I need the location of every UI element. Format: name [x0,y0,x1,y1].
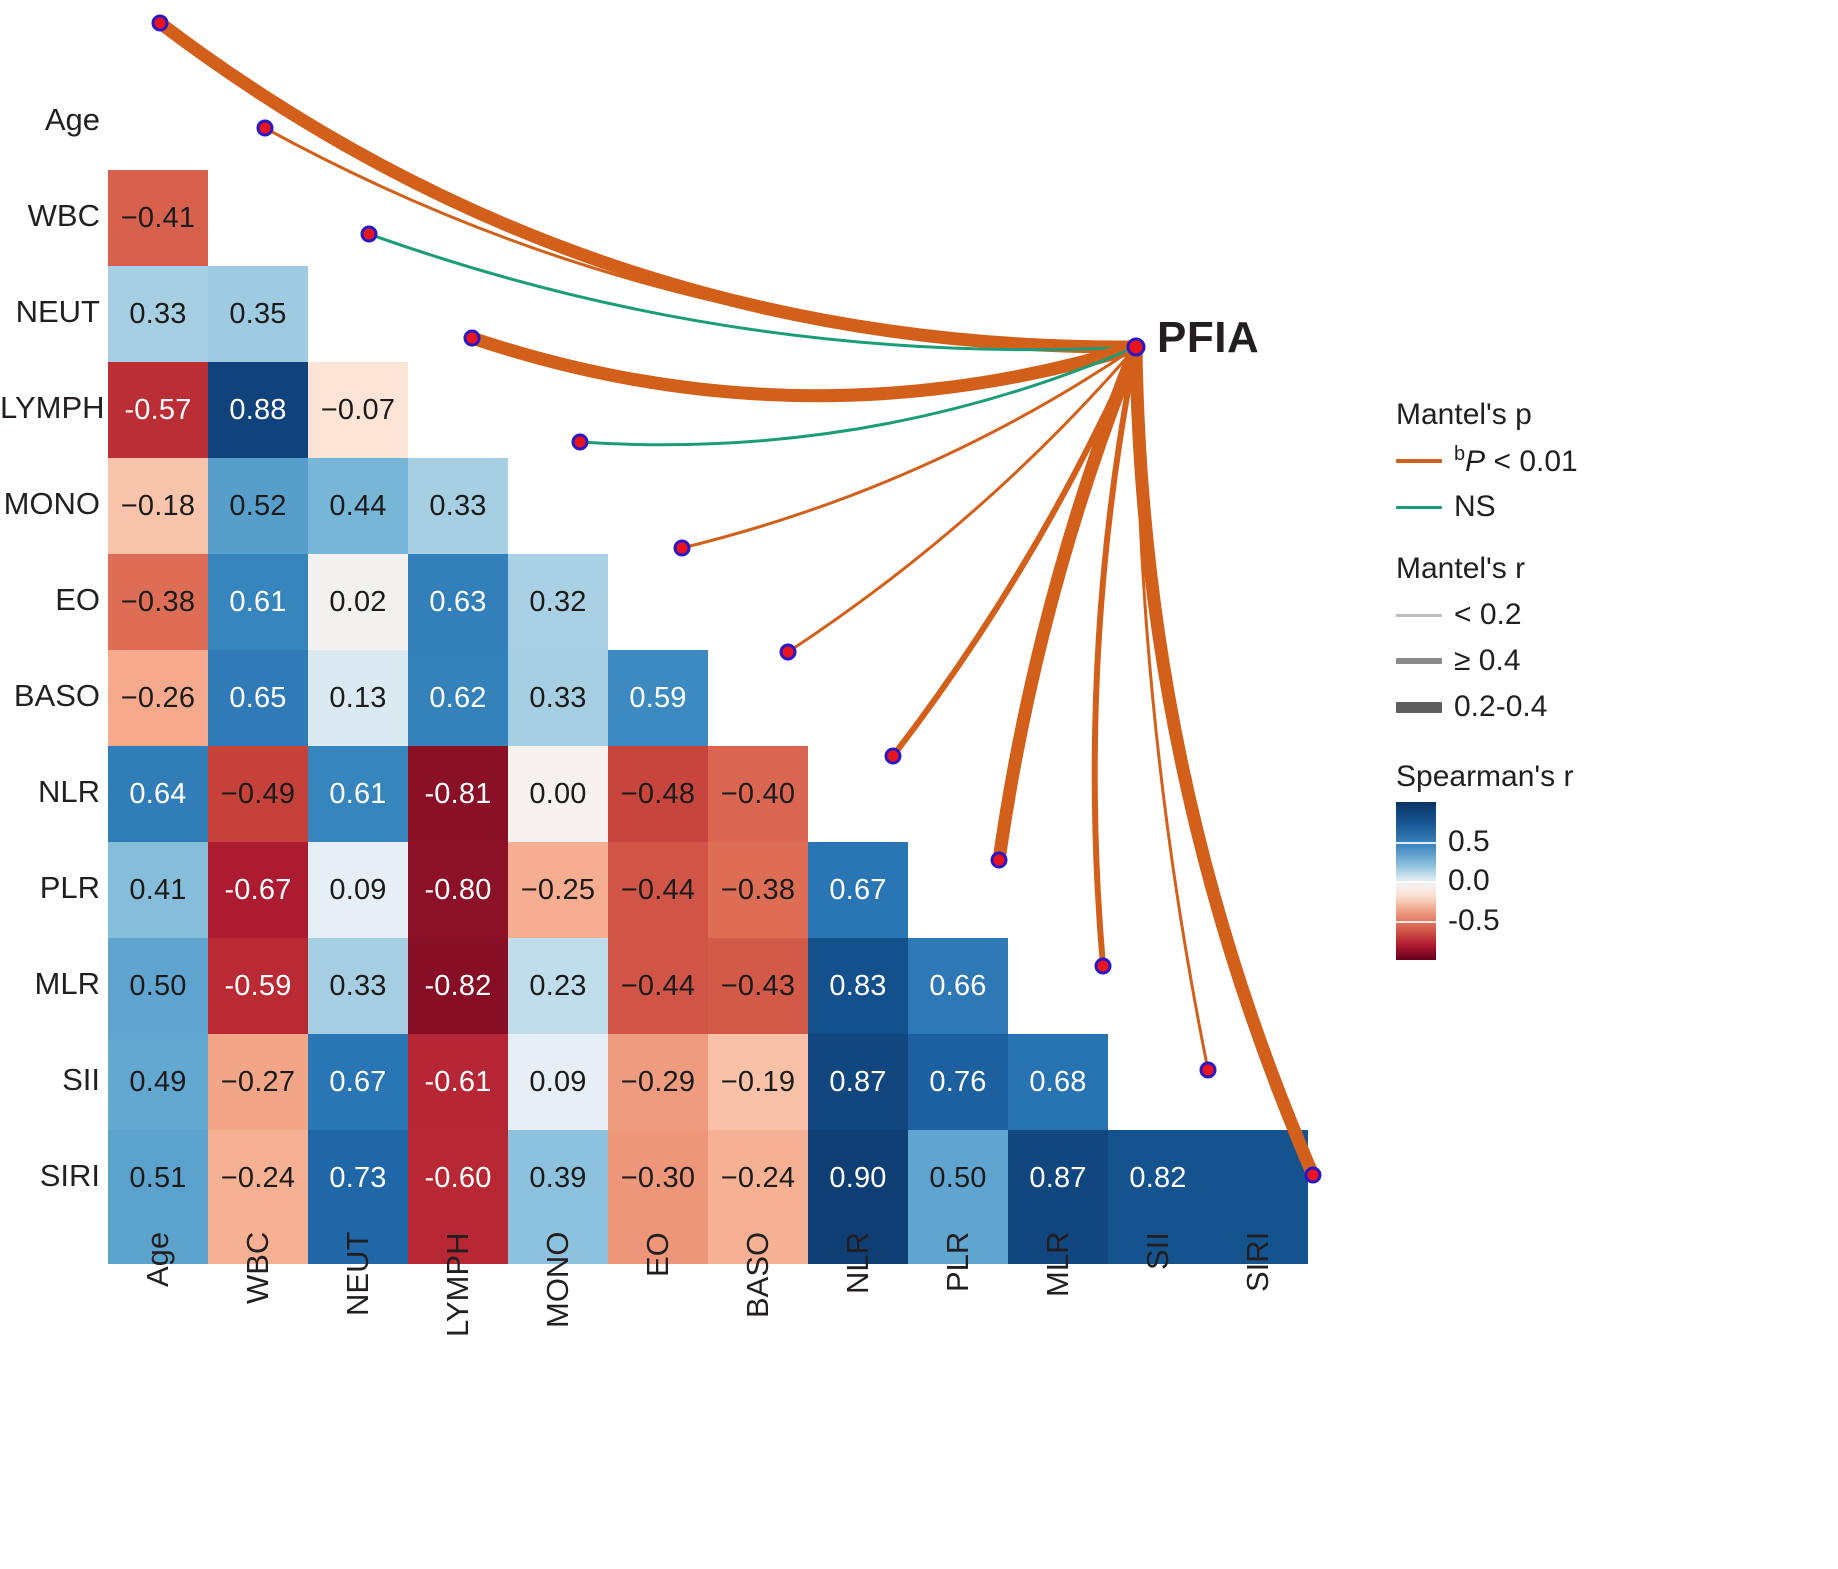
heatmap-cell: 0.50 [108,938,208,1034]
y-axis-label-mlr: MLR [0,966,100,1002]
heatmap-cell: -0.61 [408,1034,508,1130]
heatmap-cell: −0.38 [108,554,208,650]
colorbar-tick-label: -0.5 [1448,904,1500,938]
heatmap-cell: -0.80 [408,842,508,938]
x-axis-label-plr: PLR [908,1232,1008,1364]
heatmap-cell: 0.33 [308,938,408,1034]
y-axis-label-lymph: LYMPH [0,390,100,426]
heatmap-cell: −0.38 [708,842,808,938]
heatmap-cell: 0.64 [108,746,208,842]
y-axis-label-plr: PLR [0,870,100,906]
heatmap-cell: 0.33 [108,266,208,362]
y-axis-label-baso: BASO [0,678,100,714]
heatmap-cell: 0.66 [908,938,1008,1034]
heatmap-cell: 0.83 [808,938,908,1034]
heatmap-cell: 0.87 [808,1034,908,1130]
colorbar-body: 0.50.0-0.5 [1396,802,1826,960]
y-axis-label-eo: EO [0,582,100,618]
heatmap-cell: 0.61 [208,554,308,650]
heatmap-cell: 0.52 [208,458,308,554]
legend-item-r-ge-04: ≥ 0.4 [1396,638,1826,684]
legend-mantel-r: Mantel's r < 0.2 ≥ 0.4 0.2-0.4 [1396,552,1826,730]
heatmap-cell: −0.30 [608,1130,708,1226]
colorbar-title: Spearman's r [1396,760,1826,794]
x-axis-label-siri: SIRI [1208,1232,1308,1364]
y-axis-label-age: Age [0,102,100,138]
heatmap-cell: 0.90 [808,1130,908,1226]
legend-item-p-lt-001: bP < 0.01 [1396,438,1826,484]
heatmap-cell: 0.33 [408,458,508,554]
x-axis-label-baso: BASO [708,1232,808,1364]
heatmap-cell: −0.19 [708,1034,808,1130]
heatmap-cell: −0.43 [708,938,808,1034]
x-axis-label-mlr: MLR [1008,1232,1108,1364]
heatmap-cell: 0.13 [308,650,408,746]
colorbar-tick-labels: 0.50.0-0.5 [1448,802,1598,960]
heatmap-cell: -0.81 [408,746,508,842]
mantel-node-age [153,16,167,30]
hub-label-pfia: PFIA [1157,313,1259,363]
legend-line-swatch-orange [1396,459,1454,463]
heatmap-cell: 0.67 [808,842,908,938]
heatmap-cell: −0.18 [108,458,208,554]
correlation-heatmap-figure: −0.410.330.35-0.570.88−0.07−0.180.520.44… [0,0,1838,1569]
x-axis-label-age: Age [108,1232,208,1364]
heatmap-cell: −0.26 [108,650,208,746]
y-axis-labels: AgeWBCNEUTLYMPHMONOEOBASONLRPLRMLRSIISIR… [0,74,100,1226]
colorbar-tickmark [1396,881,1436,883]
x-axis-label-sii: SII [1108,1232,1208,1364]
heatmap-cell: 0.39 [508,1130,608,1226]
colorbar-panel: Spearman's r 0.50.0-0.5 [1396,760,1826,960]
heatmap-cell: −0.29 [608,1034,708,1130]
legend-line-swatch-thick [1396,702,1454,713]
heatmap-cell: 0.49 [108,1034,208,1130]
heatmap-cell: −0.48 [608,746,708,842]
heatmap-cell: 0.23 [508,938,608,1034]
legend-item-r-lt-02-label: < 0.2 [1454,598,1522,632]
heatmap-cell: 0.32 [508,554,608,650]
heatmap-cell: 0.65 [208,650,308,746]
heatmap-cell: 0.09 [508,1034,608,1130]
x-axis-label-neut: NEUT [308,1232,408,1364]
x-axis-label-mono: MONO [508,1232,608,1364]
heatmap-cell: 0.62 [408,650,508,746]
heatmap-cell: 0.61 [308,746,408,842]
legend-item-ns: NS [1396,484,1826,530]
colorbar-gradient [1396,802,1436,960]
legend-mantel-p-title: Mantel's p [1396,398,1826,432]
heatmap-cell: −0.24 [208,1130,308,1226]
heatmap-cell: −0.24 [708,1130,808,1226]
x-axis-label-lymph: LYMPH [408,1232,508,1364]
mantel-node-siri [1306,1168,1320,1182]
heatmap-cell: 0.59 [608,650,708,746]
legend-item-r-lt-02: < 0.2 [1396,592,1826,638]
x-axis-labels: AgeWBCNEUTLYMPHMONOEOBASONLRPLRMLRSIISIR… [108,1232,1408,1372]
x-axis-label-wbc: WBC [208,1232,308,1364]
heatmap-cell: 0.63 [408,554,508,650]
y-axis-label-siri: SIRI [0,1158,100,1194]
legend-item-p-lt-001-label: bP < 0.01 [1454,443,1578,479]
heatmap-cell: -0.82 [408,938,508,1034]
heatmap-cell: -0.67 [208,842,308,938]
heatmap-cell: −0.41 [108,170,208,266]
y-axis-label-sii: SII [0,1062,100,1098]
heatmap-cell: 0.73 [308,1130,408,1226]
x-axis-label-eo: EO [608,1232,708,1364]
heatmap-cell: −0.40 [708,746,808,842]
heatmap-cell: 0.50 [908,1130,1008,1226]
heatmap-cell: 0.41 [108,842,208,938]
heatmap-cell: 0.09 [308,842,408,938]
legend-item-r-02-04-label: 0.2-0.4 [1454,690,1547,724]
legend-panel: Mantel's p bP < 0.01 NS Mantel's r [1396,398,1826,752]
heatmap-cell: 0.44 [308,458,408,554]
heatmap-cell: 0.76 [908,1034,1008,1130]
heatmap-cell: 0.88 [208,362,308,458]
y-axis-label-neut: NEUT [0,294,100,330]
colorbar-tick-label: 0.5 [1448,825,1490,859]
heatmap-cell: 0.51 [108,1130,208,1226]
heatmap-cell: 0.87 [1008,1130,1108,1226]
colorbar-tick-label: 0.0 [1448,864,1490,898]
legend-line-swatch-green [1396,506,1454,509]
heatmap-cell: −0.07 [308,362,408,458]
legend-item-r-ge-04-label: ≥ 0.4 [1454,644,1521,678]
heatmap-cell: −0.44 [608,842,708,938]
heatmap-cell: -0.60 [408,1130,508,1226]
legend-line-swatch-medium [1396,658,1454,664]
legend-line-swatch-thin [1396,614,1454,617]
heatmap-cell: 0.00 [508,746,608,842]
legend-mantel-p: Mantel's p bP < 0.01 NS [1396,398,1826,530]
legend-mantel-r-title: Mantel's r [1396,552,1826,586]
y-axis-label-wbc: WBC [0,198,100,234]
heatmap-cell: −0.49 [208,746,308,842]
heatmap-cell: 0.02 [308,554,408,650]
heatmap-cell: 0.67 [308,1034,408,1130]
y-axis-label-mono: MONO [0,486,100,522]
colorbar-tickmark [1396,842,1436,844]
heatmap-cell: −0.44 [608,938,708,1034]
heatmap-cell: -0.59 [208,938,308,1034]
x-axis-label-nlr: NLR [808,1232,908,1364]
legend-item-ns-label: NS [1454,490,1496,524]
heatmap-cell: -0.57 [108,362,208,458]
heatmap-cell: 0.68 [1008,1034,1108,1130]
legend-item-r-02-04: 0.2-0.4 [1396,684,1826,730]
heatmap-grid: −0.410.330.35-0.570.88−0.07−0.180.520.44… [108,74,1308,1226]
colorbar-tickmarks [1396,802,1436,960]
heatmap-cell: 0.33 [508,650,608,746]
y-axis-label-nlr: NLR [0,774,100,810]
heatmap-cell: 0.35 [208,266,308,362]
colorbar-tickmark [1396,921,1436,923]
heatmap-cell: 0.82 [1108,1130,1208,1226]
heatmap-cell: −0.27 [208,1034,308,1130]
heatmap-cell: −0.25 [508,842,608,938]
